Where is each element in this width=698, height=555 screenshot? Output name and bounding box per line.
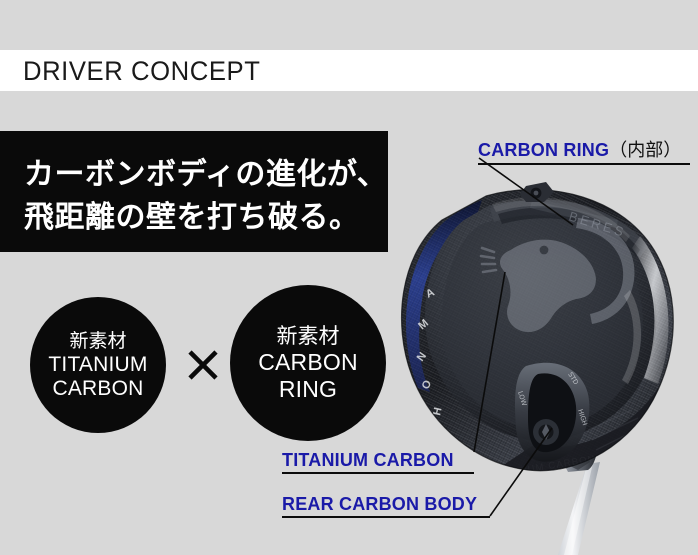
multiply-icon — [186, 348, 220, 382]
material-name-line-1: TITANIUM — [48, 353, 147, 377]
callout-label: REAR CARBON BODY — [282, 494, 477, 514]
catch-copy-line-1: カーボンボディの進化が、 — [24, 158, 387, 192]
material-circle-titanium-carbon: 新素材 TITANIUM CARBON — [30, 297, 166, 433]
callout-label: CARBON RING — [478, 140, 609, 160]
driver-concept-panel: DRIVER CONCEPT カーボンボディの進化が、 飛距離の壁を打ち破る。 … — [0, 0, 698, 555]
callout-underline — [478, 163, 690, 165]
material-eyebrow: 新素材 — [69, 330, 126, 352]
material-circle-carbon-ring: 新素材 CARBON RING — [230, 285, 386, 441]
page-title: DRIVER CONCEPT — [23, 55, 260, 87]
club-shaft — [558, 462, 600, 555]
callout-carbon-ring: CARBON RING（内部） — [478, 136, 690, 165]
callout-label: TITANIUM CARBON — [282, 450, 454, 470]
callout-titanium-carbon: TITANIUM CARBON — [282, 450, 474, 474]
material-name-line-2: CARBON — [52, 377, 143, 401]
material-name-line-2: RING — [279, 376, 337, 403]
material-name-line-1: CARBON — [258, 349, 358, 376]
callout-suffix: （内部） — [609, 140, 681, 161]
catch-copy-line-2: 飛距離の壁を打ち破る。 — [24, 201, 360, 235]
callout-underline — [282, 516, 490, 518]
callout-underline — [282, 472, 474, 474]
callout-rear-carbon-body: REAR CARBON BODY — [282, 494, 490, 518]
material-eyebrow: 新素材 — [277, 324, 340, 348]
